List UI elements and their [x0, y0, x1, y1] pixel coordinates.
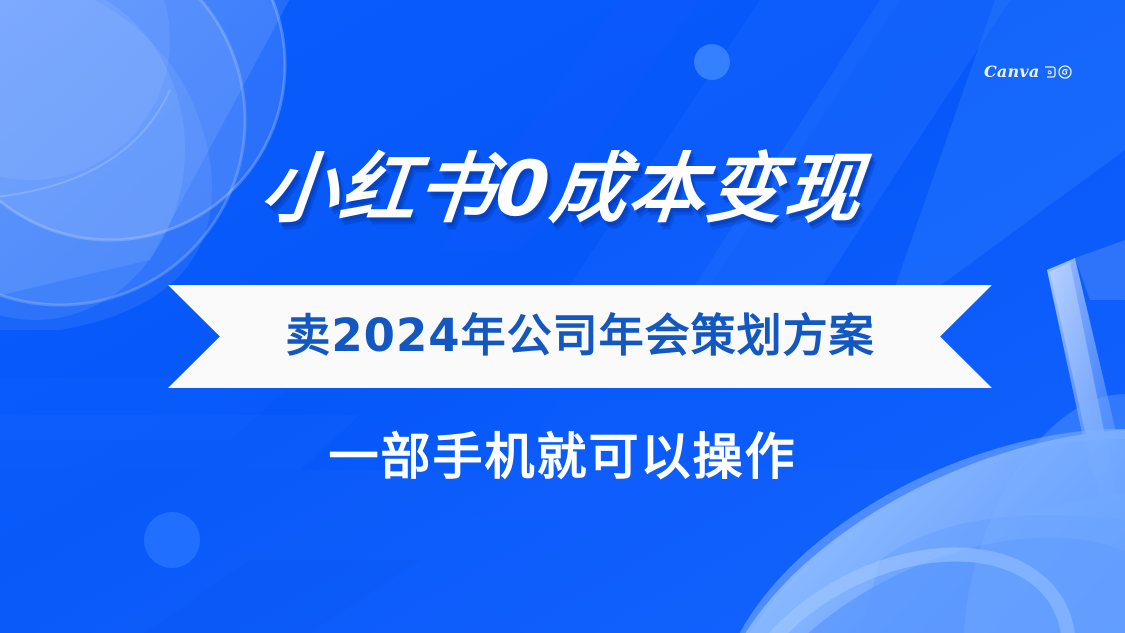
headline-title: 小红书0成本变现 [0, 149, 1125, 230]
swirl-glyph-right-icon [1058, 65, 1072, 79]
subtitle-ribbon: 卖2024年公司年会策划方案 [168, 285, 992, 388]
content-layer: Canva 小红书0成本变现 卖2024年公司年会策划方案 一部手机就可以操作 [0, 0, 1125, 633]
canva-watermark: Canva [984, 58, 1076, 86]
swirl-glyph-left-icon [1043, 65, 1056, 79]
poster-canvas: Canva 小红书0成本变现 卖2024年公司年会策划方案 一部手机就可以操作 [0, 0, 1125, 633]
ribbon-subtitle-text: 卖2024年公司年会策划方案 [285, 313, 874, 360]
tagline-text: 一部手机就可以操作 [0, 432, 1125, 482]
canva-glyph-group [1043, 65, 1072, 79]
canva-wordmark: Canva [984, 64, 1039, 80]
